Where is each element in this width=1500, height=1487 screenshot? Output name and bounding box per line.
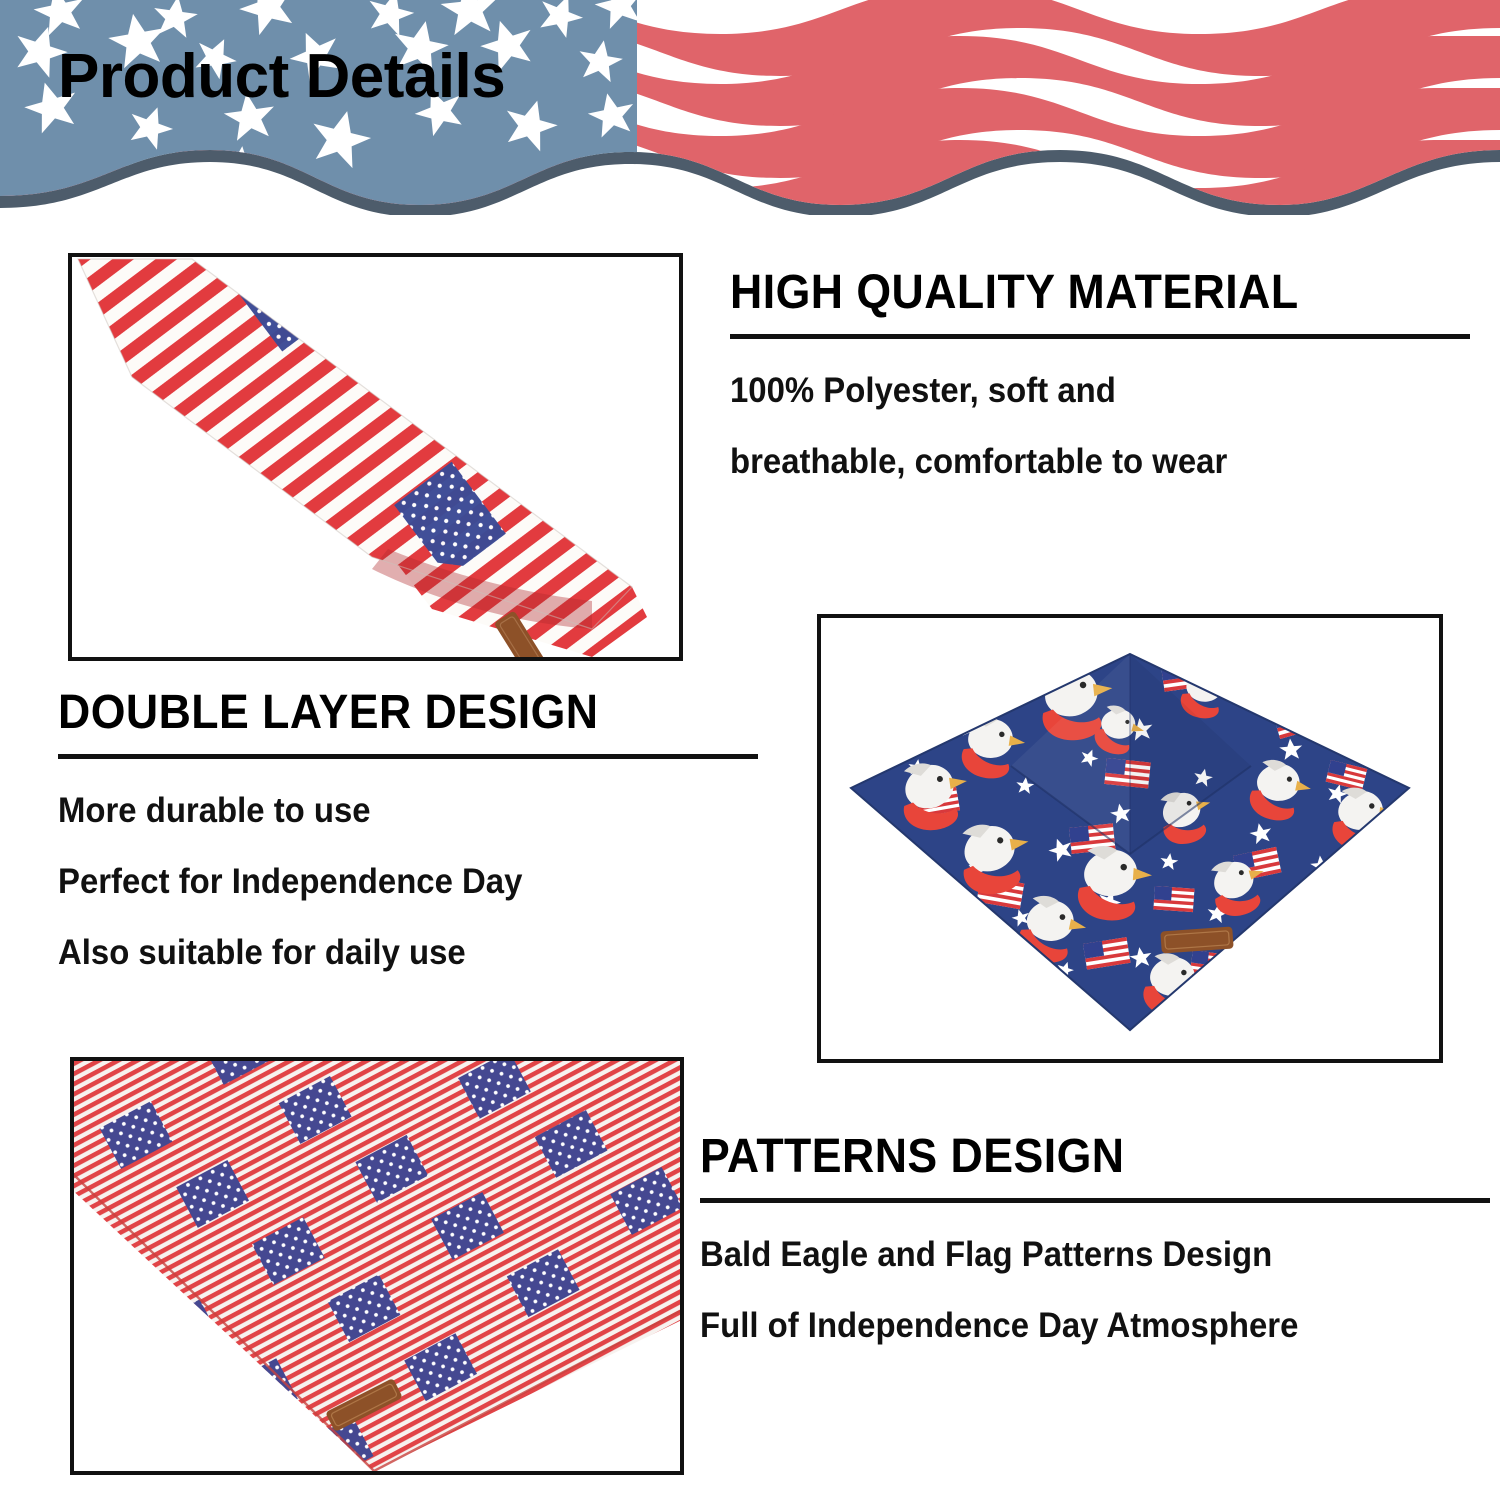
- section-line: More durable to use: [58, 793, 716, 830]
- section-line: Full of Independence Day Atmosphere: [700, 1308, 1443, 1345]
- product-details-page: Product Details: [0, 0, 1500, 1487]
- section-patterns-design: PATTERNS DESIGN Bald Eagle and Flag Patt…: [700, 1132, 1490, 1345]
- folded-stripe-bandana-art: [72, 257, 679, 657]
- section-line: Also suitable for daily use: [58, 935, 716, 972]
- photo-flat-stripe-bandana: [70, 1057, 684, 1475]
- section-heading: PATTERNS DESIGN: [700, 1132, 1435, 1182]
- section-lines: 100% Polyester, soft and breathable, com…: [730, 373, 1470, 481]
- section-lines: More durable to use Perfect for Independ…: [58, 793, 758, 971]
- section-line: 100% Polyester, soft and: [730, 373, 1426, 410]
- flat-stripe-bandana-art: [74, 1061, 680, 1471]
- page-title: Product Details: [58, 46, 505, 108]
- photo-eagle-bandana: [817, 614, 1443, 1063]
- section-double-layer-design: DOUBLE LAYER DESIGN More durable to use …: [58, 688, 758, 972]
- section-heading: HIGH QUALITY MATERIAL: [730, 268, 1418, 318]
- section-line: breathable, comfortable to wear: [730, 444, 1426, 481]
- section-divider: [730, 334, 1470, 339]
- section-high-quality-material: HIGH QUALITY MATERIAL 100% Polyester, so…: [730, 268, 1470, 481]
- flag-banner-header: Product Details: [0, 0, 1500, 215]
- section-line: Perfect for Independence Day: [58, 864, 716, 901]
- section-divider: [700, 1198, 1490, 1203]
- section-heading: DOUBLE LAYER DESIGN: [58, 688, 709, 738]
- eagle-bandana-art: [821, 618, 1439, 1059]
- section-line: Bald Eagle and Flag Patterns Design: [700, 1237, 1443, 1274]
- section-divider: [58, 754, 758, 759]
- photo-folded-stripe-bandana: [68, 253, 683, 661]
- section-lines: Bald Eagle and Flag Patterns Design Full…: [700, 1237, 1490, 1345]
